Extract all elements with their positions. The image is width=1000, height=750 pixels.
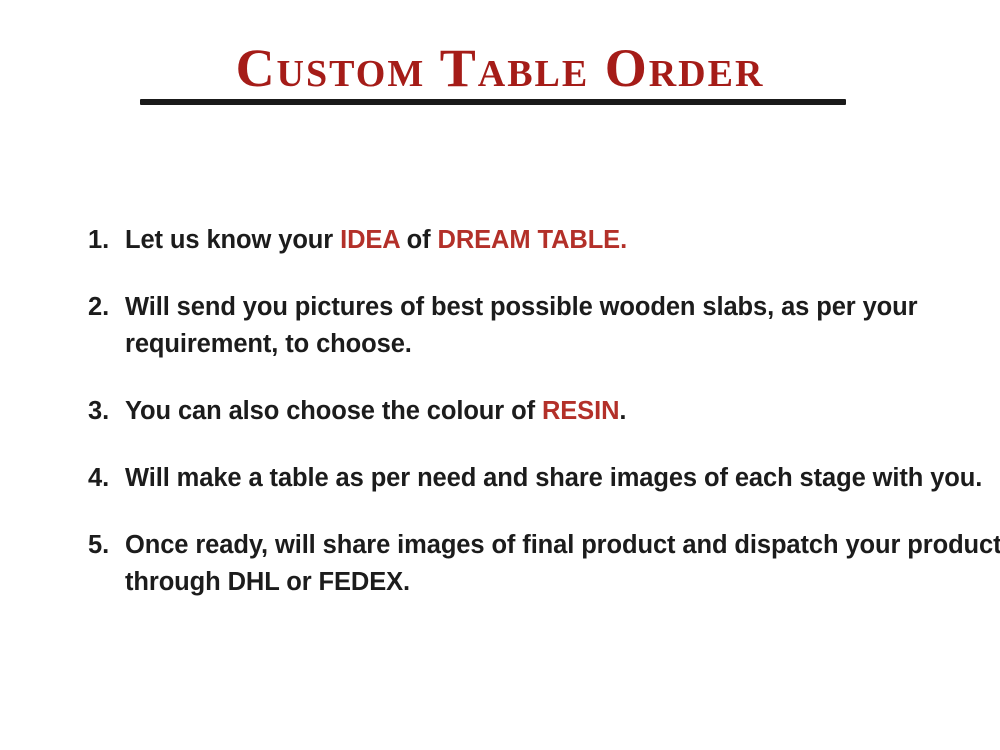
title-underline-rule bbox=[140, 99, 846, 105]
step-text: Will send you pictures of best possible … bbox=[125, 289, 1000, 363]
list-item: 3. You can also choose the colour of RES… bbox=[88, 393, 1000, 430]
step-number: 1. bbox=[88, 222, 121, 259]
step-text: Will make a table as per need and share … bbox=[125, 460, 1000, 497]
steps-list: 1. Let us know your IDEA of DREAM TABLE.… bbox=[48, 222, 1000, 601]
title-block: Custom Table Order bbox=[0, 38, 1000, 98]
step-number: 4. bbox=[88, 460, 121, 497]
step-text: You can also choose the colour of RESIN. bbox=[125, 393, 1000, 430]
slide-canvas: Custom Table Order 1. Let us know your I… bbox=[0, 0, 1000, 750]
emphasis-text: DREAM TABLE. bbox=[438, 226, 628, 254]
body-text: Let us know your bbox=[125, 226, 340, 254]
body-text: . bbox=[619, 397, 626, 425]
step-number: 3. bbox=[88, 393, 121, 430]
list-item: 5. Once ready, will share images of fina… bbox=[88, 527, 1000, 601]
body-text: of bbox=[400, 226, 438, 254]
emphasis-text: RESIN bbox=[542, 397, 619, 425]
list-item: 2. Will send you pictures of best possib… bbox=[88, 289, 1000, 363]
body-text: Will send you pictures of best possible … bbox=[125, 293, 917, 358]
step-text: Once ready, will share images of final p… bbox=[125, 527, 1000, 601]
emphasis-text: IDEA bbox=[340, 226, 400, 254]
step-number: 2. bbox=[88, 289, 121, 326]
body-text: Once ready, will share images of final p… bbox=[125, 531, 1000, 596]
step-text: Let us know your IDEA of DREAM TABLE. bbox=[125, 222, 1000, 259]
body-text: You can also choose the colour of bbox=[125, 397, 542, 425]
body-text: Will make a table as per need and share … bbox=[125, 464, 982, 492]
list-item: 4. Will make a table as per need and sha… bbox=[88, 460, 1000, 497]
page-title: Custom Table Order bbox=[232, 38, 769, 98]
list-item: 1. Let us know your IDEA of DREAM TABLE. bbox=[88, 222, 1000, 259]
step-number: 5. bbox=[88, 527, 121, 564]
